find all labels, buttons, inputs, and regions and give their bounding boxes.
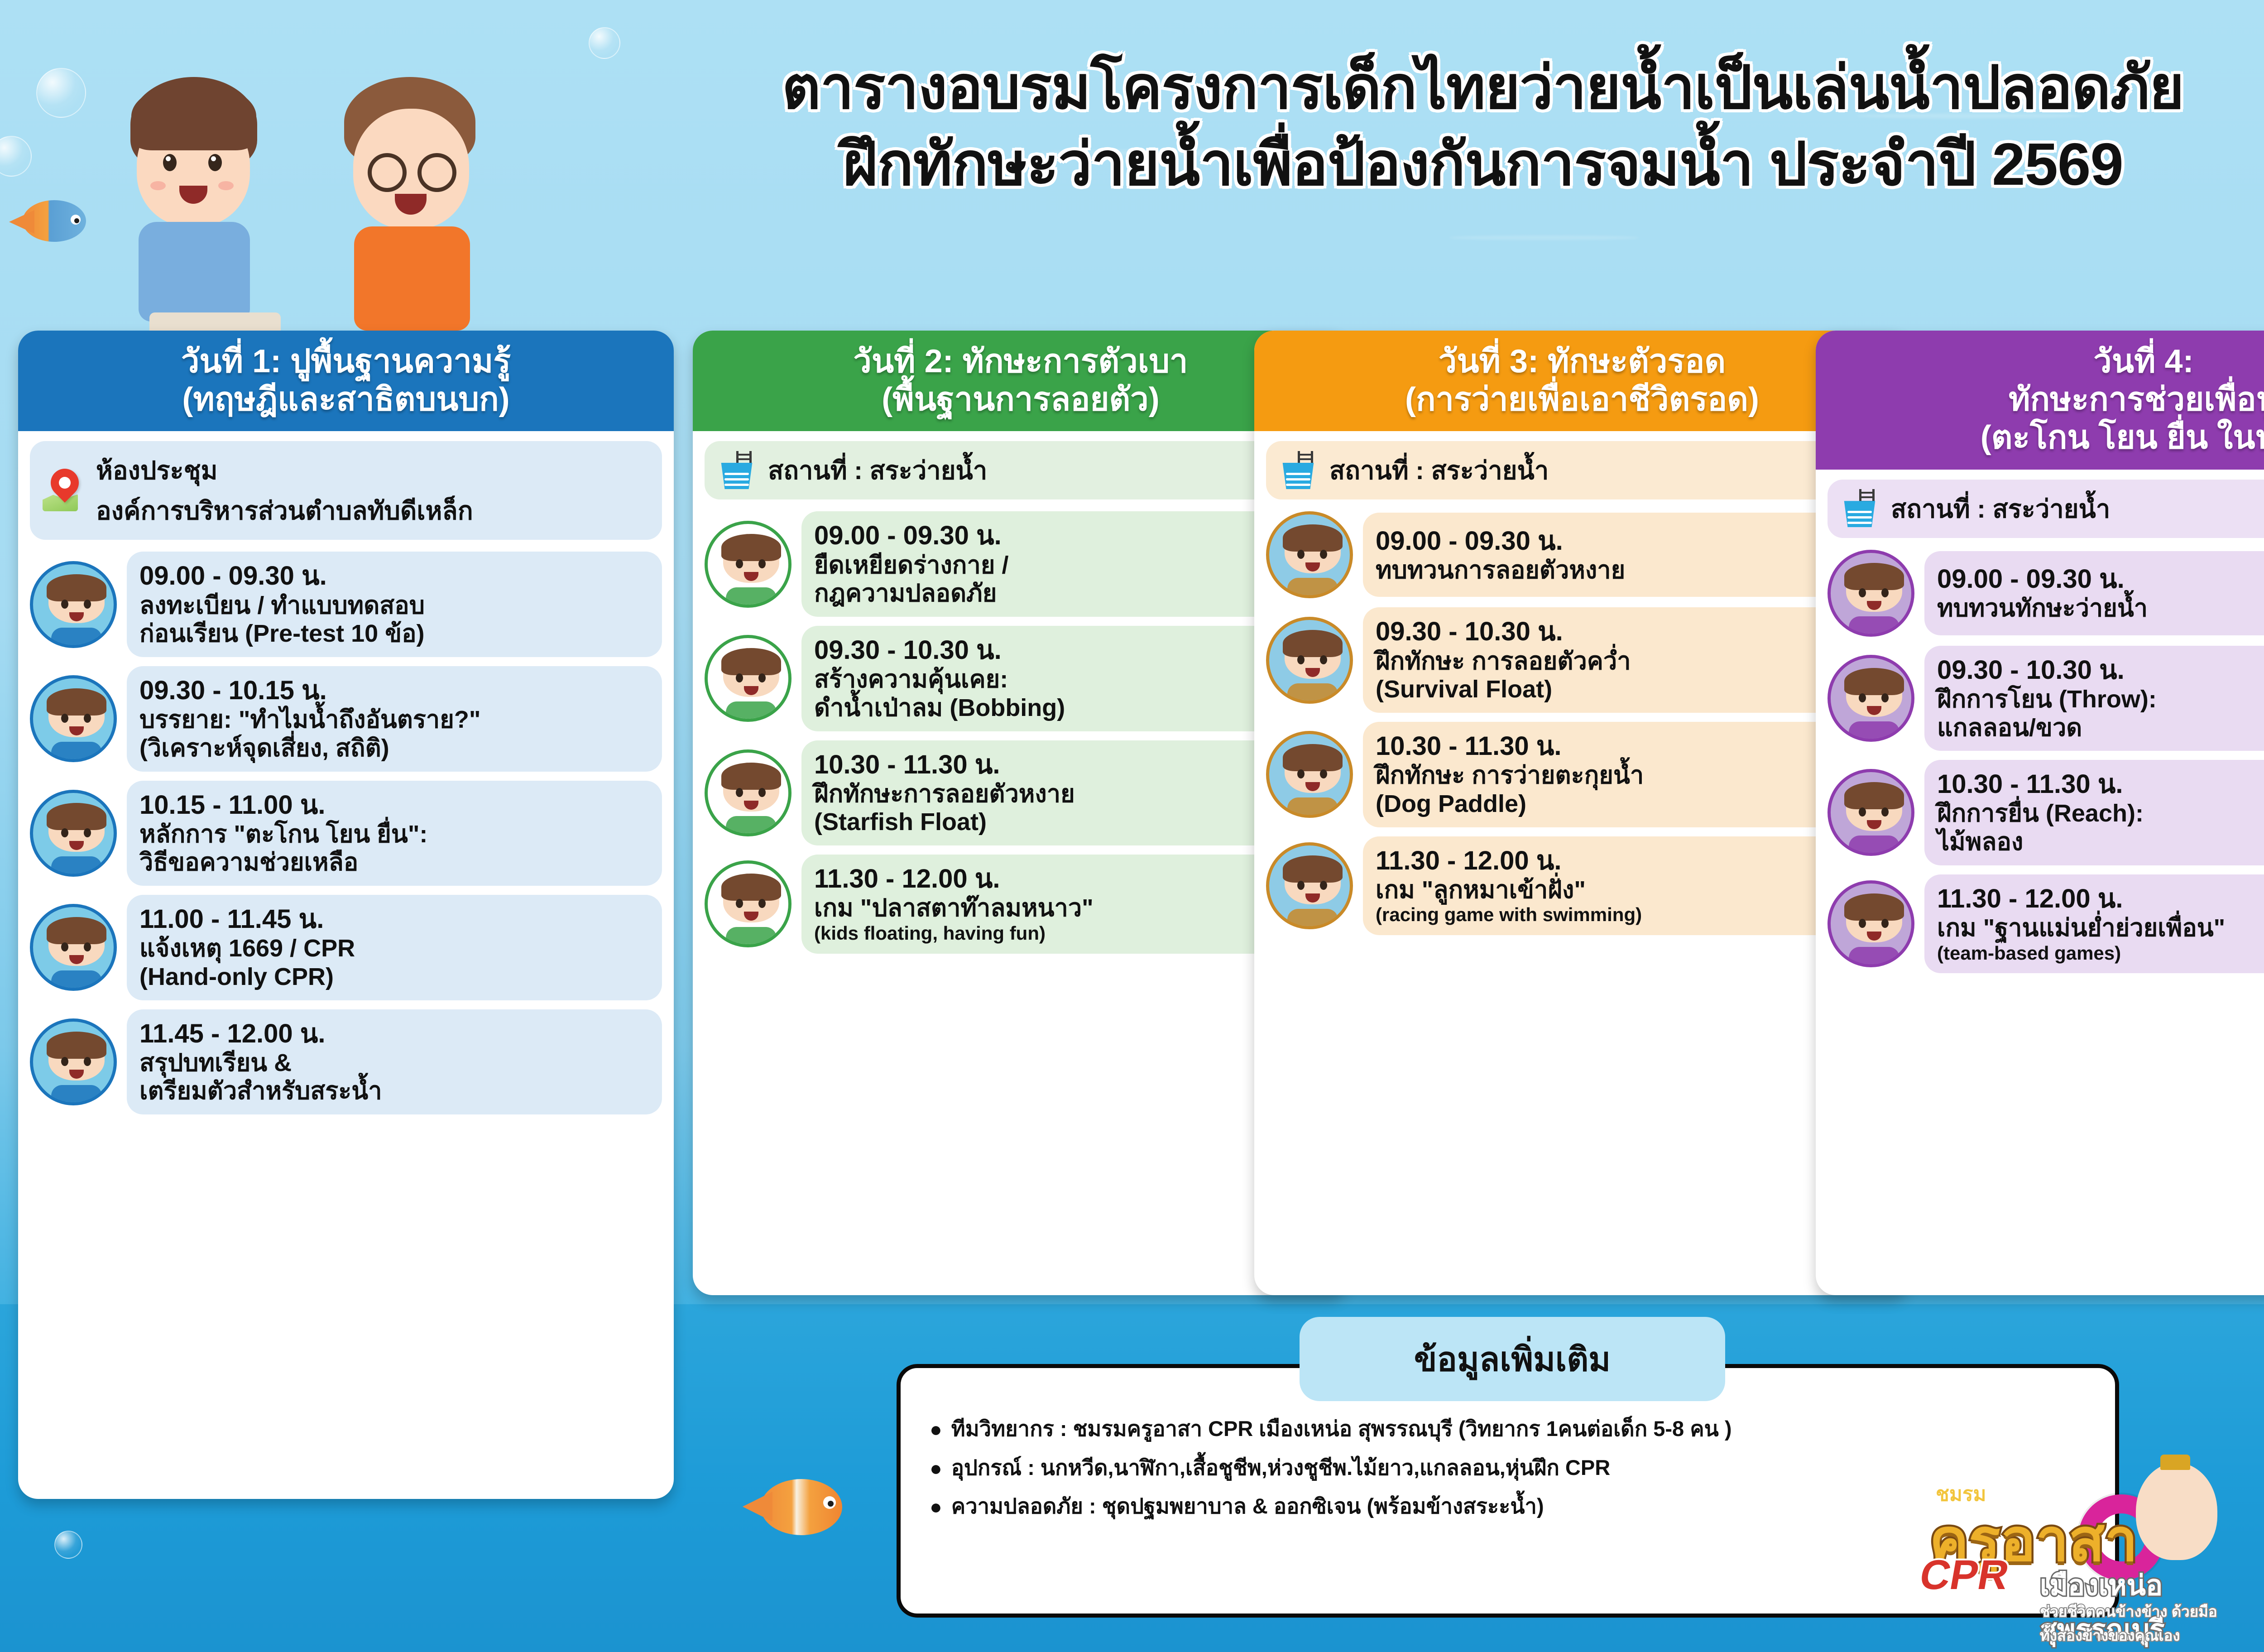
footer-bullet-text: ความปลอดภัย : ชุดปฐมพยาบาล & ออกซิเจน (พ…: [951, 1494, 1544, 1518]
day-column-2: วันที่ 2: ทักษะการตัวเบา(พื้นฐานการลอยตั…: [693, 331, 1348, 1295]
fish-decoration: [9, 195, 95, 249]
slot-description: เกม "ปลาสตาท๊าลมหนาว": [814, 894, 1324, 922]
day-header-line1: วันที่ 2: ทักษะการตัวเบา: [854, 343, 1188, 379]
day-body-1: ห้องประชุมองค์การบริหารส่วนตำบลทับดีเหล็…: [18, 431, 674, 1499]
mascot-boy-writing: [95, 41, 290, 331]
day-header-4: วันที่ 4:ทักษะการช่วยเพื่อน(ตะโกน โยน ยื…: [1816, 331, 2264, 470]
child-starfish-float-icon: [705, 749, 791, 836]
slot-time: 10.30 - 11.30 น.: [814, 749, 1324, 780]
schedule-slot: 09.30 - 10.30 น.ฝึกทักษะ การลอยตัวคว่ำ(S…: [1266, 607, 1898, 713]
slot-time: 09.00 - 09.30 น.: [1376, 526, 1885, 556]
day-column-3: วันที่ 3: ทักษะตัวรอด(การว่ายเพื่อเอาชีว…: [1254, 331, 1910, 1295]
logo-line3: CPR: [1916, 1551, 2013, 1599]
mascot-boy-glasses: [312, 50, 507, 331]
bubble-decoration: [54, 1531, 82, 1559]
schedule-slot: 11.30 - 12.00 น.เกม "ฐานแม่นย่ำย่วยเพื่อ…: [1828, 874, 2264, 974]
slot-description-secondary: (racing game with swimming): [1376, 904, 1885, 926]
day-body-3: สถานที่ : สระว่ายน้ำ09.00 - 09.30 น.ทบทว…: [1254, 431, 1910, 1295]
footer-badge: ข้อมูลเพิ่มเติม: [1300, 1317, 1725, 1401]
slot-description: บรรยาย: "ทำไมน้ำถึงอันตราย?"(วิเคราะห์จุ…: [139, 706, 649, 762]
day-header-2: วันที่ 2: ทักษะการตัวเบา(พื้นฐานการลอยตั…: [693, 331, 1348, 431]
child-back-float-icon: [1266, 511, 1353, 598]
slot-time: 09.30 - 10.30 น.: [1376, 616, 1885, 647]
slot-description: ลงทะเบียน / ทำแบบทดสอบก่อนเรียน (Pre-tes…: [139, 591, 649, 648]
slot-time: 09.00 - 09.30 น.: [139, 561, 649, 591]
pool-icon: [1278, 451, 1319, 490]
child-writing-icon: [30, 561, 117, 648]
day-header-line2: (ตะโกน โยน ยื่น ในน้ำ): [1823, 418, 2264, 456]
slot-time: 09.30 - 10.15 น.: [139, 675, 649, 706]
child-survival-float-icon: [1266, 617, 1353, 704]
location-text: สถานที่ : สระว่ายน้ำ: [1891, 489, 2110, 529]
logo-tagline: ช่วยชีวิตคนข้างข้าง ด้วยมือทั้งสองข้างขอ…: [2040, 1599, 2230, 1647]
schedule-slot: 11.30 - 12.00 น.เกม "ปลาสตาท๊าลมหนาว"(ki…: [705, 855, 1337, 954]
slot-description: ยืดเหยียดร่างกาย /กฎความปลอดภัย: [814, 551, 1324, 608]
location-text: สถานที่ : สระว่ายน้ำ: [1329, 450, 1549, 490]
child-throwing-jug-icon: [1828, 655, 1914, 742]
footer-bullet: ● ทีมวิทยากร : ชมรมครูอาสา CPR เมืองเหน่…: [930, 1417, 2093, 1441]
day-header-line2: (พื้นฐานการลอยตัว): [700, 380, 1341, 418]
day-header-line1: วันที่ 1: ปูพื้นฐานความรู้: [181, 343, 511, 379]
bullet-dot-icon: ●: [930, 1496, 942, 1517]
slot-time: 11.00 - 11.45 น.: [139, 904, 649, 934]
slot-description: สร้างความคุ้นเคย:ดำน้ำเป่าลม (Bobbing): [814, 665, 1324, 722]
location-text: ห้องประชุมองค์การบริหารส่วนตำบลทับดีเหล็…: [96, 450, 473, 531]
pool-icon: [1839, 489, 1880, 528]
bubble-decoration: [36, 68, 86, 118]
bullet-dot-icon: ●: [930, 1419, 942, 1440]
slot-time: 09.30 - 10.30 น.: [814, 635, 1324, 665]
schedule-slot: 09.30 - 10.30 น.สร้างความคุ้นเคย:ดำน้ำเป…: [705, 626, 1337, 731]
schedule-slot: 11.45 - 12.00 น.สรุปบทเรียน &เตรียมตัวสำ…: [30, 1009, 662, 1115]
schedule-slot: 10.30 - 11.30 น.ฝึกทักษะ การว่ายตะกุยน้ำ…: [1266, 722, 1898, 827]
glasses-icon: [368, 153, 407, 192]
bullet-dot-icon: ●: [930, 1458, 942, 1479]
schedule-slot-card: 10.15 - 11.00 น.หลักการ "ตะโกน โยน ยื่น"…: [127, 781, 662, 886]
schedule-slot-card: 09.00 - 09.30 น.ลงทะเบียน / ทำแบบทดสอบก่…: [127, 552, 662, 657]
schedule-slot: 09.00 - 09.30 น.ลงทะเบียน / ทำแบบทดสอบก่…: [30, 552, 662, 657]
slot-description: สรุปบทเรียน &เตรียมตัวสำหรับสระน้ำ: [139, 1049, 649, 1105]
slot-description: เกม "ลูกหมาเข้าฝั่ง": [1376, 876, 1885, 904]
schedule-slot: 11.00 - 11.45 น.แจ้งเหตุ 1669 / CPR(Hand…: [30, 895, 662, 1000]
day-header-line1: วันที่ 4:: [2093, 343, 2193, 379]
child-waving-water-icon: [1828, 550, 1914, 637]
schedule-slot-card: 11.00 - 11.45 น.แจ้งเหตุ 1669 / CPR(Hand…: [127, 895, 662, 1000]
schedule-slot: 09.30 - 10.15 น.บรรยาย: "ทำไมน้ำถึงอันตร…: [30, 666, 662, 772]
slot-description: แจ้งเหตุ 1669 / CPR(Hand-only CPR): [139, 934, 649, 991]
child-dog-paddle-icon: [1266, 731, 1353, 818]
slot-description-secondary: (kids floating, having fun): [814, 922, 1324, 945]
schedule-slot: 10.30 - 11.30 น.ฝึกทักษะการลอยตัวหงาย(St…: [705, 740, 1337, 846]
schedule-slot-card: 11.30 - 12.00 น.เกม "ฐานแม่นย่ำย่วยเพื่อ…: [1924, 874, 2264, 974]
slot-description: ทบทวนทักษะว่ายน้ำ: [1937, 594, 2264, 623]
day-header-line1b: ทักษะการช่วยเพื่อน: [1823, 380, 2264, 418]
two-kids-stretching-icon: [705, 521, 791, 608]
schedule-slot: 09.00 - 09.30 น.ทบทวนทักษะว่ายน้ำ: [1828, 550, 2264, 637]
slot-time: 10.15 - 11.00 น.: [139, 790, 649, 820]
location-chip: สถานที่ : สระว่ายน้ำ: [705, 441, 1337, 499]
day-body-4: สถานที่ : สระว่ายน้ำ09.00 - 09.30 น.ทบทว…: [1816, 470, 2264, 1295]
schedule-slot: 10.30 - 11.30 น.ฝึกการยื่น (Reach):ไม้พล…: [1828, 760, 2264, 865]
kids-throwing-bottle-icon: [30, 790, 117, 877]
schedule-slot-card: 10.30 - 11.30 น.ฝึกการยื่น (Reach):ไม้พล…: [1924, 760, 2264, 865]
location-text: สถานที่ : สระว่ายน้ำ: [768, 450, 987, 490]
slot-description: ฝึกทักษะ การว่ายตะกุยน้ำ(Dog Paddle): [1376, 761, 1885, 818]
slot-description: หลักการ "ตะโกน โยน ยื่น":วิธีขอความช่วยเ…: [139, 820, 649, 877]
teacher-chart-icon: [30, 675, 117, 762]
schedule-slot: 09.00 - 09.30 น.ยืดเหยียดร่างกาย /กฎความ…: [705, 511, 1337, 617]
footer-badge-label: ข้อมูลเพิ่มเติม: [1414, 1332, 1611, 1386]
fish-decoration-bottom: [743, 1472, 856, 1549]
day-column-1: วันที่ 1: ปูพื้นฐานความรู้(ทฤษฎีและสาธิต…: [18, 331, 674, 1499]
day-header-1: วันที่ 1: ปูพื้นฐานความรู้(ทฤษฎีและสาธิต…: [18, 331, 674, 431]
schedule-slot: 10.15 - 11.00 น.หลักการ "ตะโกน โยน ยื่น"…: [30, 781, 662, 886]
slot-description: ฝึกการยื่น (Reach):ไม้พลอง: [1937, 799, 2264, 856]
schedule-slot-card: 09.30 - 10.15 น.บรรยาย: "ทำไมน้ำถึงอันตร…: [127, 666, 662, 772]
water-streak: [1449, 235, 1639, 240]
baby-mascot-icon: [2136, 1463, 2217, 1560]
slot-description: ฝึกการโยน (Throw):แกลลอน/ขวด: [1937, 685, 2264, 742]
day-body-2: สถานที่ : สระว่ายน้ำ09.00 - 09.30 น.ยืดเ…: [693, 431, 1348, 1295]
slot-time: 11.30 - 12.00 น.: [1376, 845, 1885, 876]
day-header-line1: วันที่ 3: ทักษะตัวรอด: [1439, 343, 1726, 379]
cpr-club-logo: ชมรม ครูอาสา CPR เมืองเหน่อ สุพรรณบุรี ช…: [1904, 1467, 2230, 1644]
slot-description: ฝึกทักษะ การลอยตัวคว่ำ(Survival Float): [1376, 647, 1885, 704]
schedule-slot: 09.00 - 09.30 น.ทบทวนการลอยตัวหงาย: [1266, 511, 1898, 598]
slot-time: 11.45 - 12.00 น.: [139, 1018, 649, 1049]
crown-icon: [2160, 1455, 2190, 1470]
glasses-icon: [417, 153, 456, 192]
schedule-slot-card: 09.30 - 10.30 น.ฝึกการโยน (Throw):แกลลอน…: [1924, 646, 2264, 751]
page-title-line1: ตารางอบรมโครงการเด็กไทยว่ายน้ำเป็นเล่นน้…: [521, 50, 2264, 126]
footer-bullet-text: อุปกรณ์ : นกหวีด,นาฬิกา,เสื้อชูชีพ,ห่วงช…: [951, 1456, 1610, 1479]
slot-time: 09.30 - 10.30 น.: [1937, 655, 2264, 685]
schedule-slot-card: 11.45 - 12.00 น.สรุปบทเรียน &เตรียมตัวสำ…: [127, 1009, 662, 1115]
slot-time: 11.30 - 12.00 น.: [1937, 884, 2264, 914]
puppy-swimming-icon: [1266, 842, 1353, 929]
slot-time: 09.00 - 09.30 น.: [814, 520, 1324, 551]
map-pin-icon: [42, 469, 85, 512]
three-kids-icon: [30, 1018, 117, 1105]
child-reaching-pole-icon: [1828, 769, 1914, 856]
location-chip: ห้องประชุมองค์การบริหารส่วนตำบลทับดีเหล็…: [30, 441, 662, 540]
day-column-4: วันที่ 4:ทักษะการช่วยเพื่อน(ตะโกน โยน ยื…: [1816, 331, 2264, 1295]
slot-description: ฝึกทักษะการลอยตัวหงาย(Starfish Float): [814, 780, 1324, 836]
schedule-slot: 09.30 - 10.30 น.ฝึกการโยน (Throw):แกลลอน…: [1828, 646, 2264, 751]
pool-icon: [716, 451, 757, 490]
cpr-icon: [30, 904, 117, 991]
page-title: ตารางอบรมโครงการเด็กไทยว่ายน้ำเป็นเล่นน้…: [521, 50, 2264, 203]
location-chip: สถานที่ : สระว่ายน้ำ: [1266, 441, 1898, 499]
day-header-line2: (การว่ายเพื่อเอาชีวิตรอด): [1262, 380, 1903, 418]
slot-time: 11.30 - 12.00 น.: [814, 864, 1324, 894]
page-title-line2: ฝึกทักษะว่ายน้ำเพื่อป้องกันการจมน้ำ ประจ…: [521, 126, 2264, 203]
slot-description: เกม "ฐานแม่นย่ำย่วยเพื่อน": [1937, 914, 2264, 942]
child-bobbing-icon: [705, 635, 791, 722]
schedule-slot: 11.30 - 12.00 น.เกม "ลูกหมาเข้าฝั่ง"(rac…: [1266, 836, 1898, 936]
location-chip: สถานที่ : สระว่ายน้ำ: [1828, 480, 2264, 538]
slot-description: ทบทวนการลอยตัวหงาย: [1376, 556, 1885, 585]
slot-time: 10.30 - 11.30 น.: [1937, 769, 2264, 799]
day-header-line2: (ทฤษฎีและสาธิตบนบก): [25, 380, 667, 418]
day-header-3: วันที่ 3: ทักษะตัวรอด(การว่ายเพื่อเอาชีว…: [1254, 331, 1910, 431]
kids-playing-water-icon: [705, 860, 791, 947]
slot-description-secondary: (team-based games): [1937, 942, 2264, 965]
footer-bullet-text: ทีมวิทยากร : ชมรมครูอาสา CPR เมืองเหน่อ …: [951, 1417, 1732, 1441]
slot-time: 09.00 - 09.30 น.: [1937, 564, 2264, 594]
schedule-slot-card: 09.00 - 09.30 น.ทบทวนทักษะว่ายน้ำ: [1924, 551, 2264, 635]
team-trophy-icon: [1828, 880, 1914, 967]
slot-time: 10.30 - 11.30 น.: [1376, 731, 1885, 761]
